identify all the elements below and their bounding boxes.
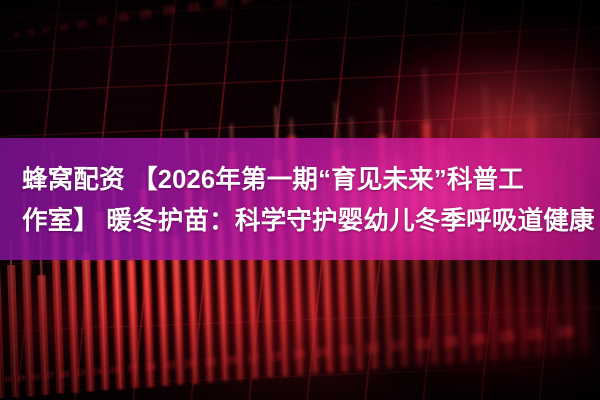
headline-text: 蜂窝配资 【2026年第一期“育见未来”科普工 作室】 暖冬护苗：科学守护婴幼儿… xyxy=(22,160,590,242)
screenshot-canvas: 13151719202228292821302740 1618191720232… xyxy=(0,0,600,400)
headline-line-1: 蜂窝配资 【2026年第一期“育见未来”科普工 xyxy=(22,160,590,201)
headline-line-2: 作室】 暖冬护苗：科学守护婴幼儿冬季呼吸道健康 xyxy=(22,201,590,242)
